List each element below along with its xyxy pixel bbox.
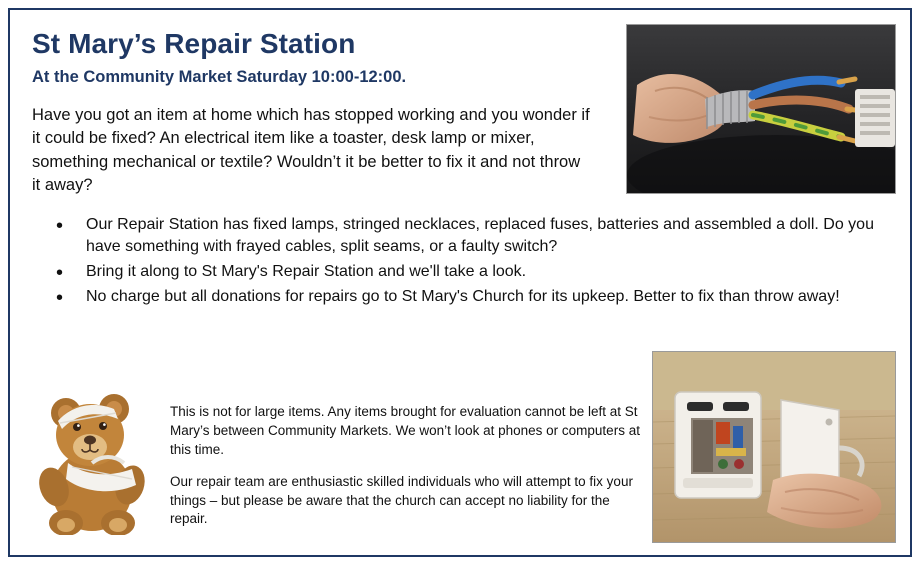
toaster-photo (652, 351, 896, 543)
footnote-paragraph: Our repair team are enthusiastic skilled… (170, 473, 650, 529)
intro-paragraph: Have you got an item at home which has s… (32, 104, 592, 198)
footnotes: This is not for large items. Any items b… (170, 403, 650, 529)
cable-photo-illustration (627, 25, 895, 193)
teddy-bear-photo (32, 383, 154, 535)
toaster-illustration (653, 352, 895, 542)
teddy-bear-illustration (32, 383, 154, 535)
list-item: Our Repair Station has fixed lamps, stri… (56, 214, 894, 259)
footnote-paragraph: This is not for large items. Any items b… (170, 403, 650, 459)
bullet-list: Our Repair Station has fixed lamps, stri… (32, 214, 894, 309)
cable-photo (626, 24, 896, 194)
poster-container: St Mary’s Repair Station At the Communit… (8, 8, 912, 557)
list-item: No charge but all donations for repairs … (56, 286, 894, 309)
list-item: Bring it along to St Mary's Repair Stati… (56, 261, 894, 284)
